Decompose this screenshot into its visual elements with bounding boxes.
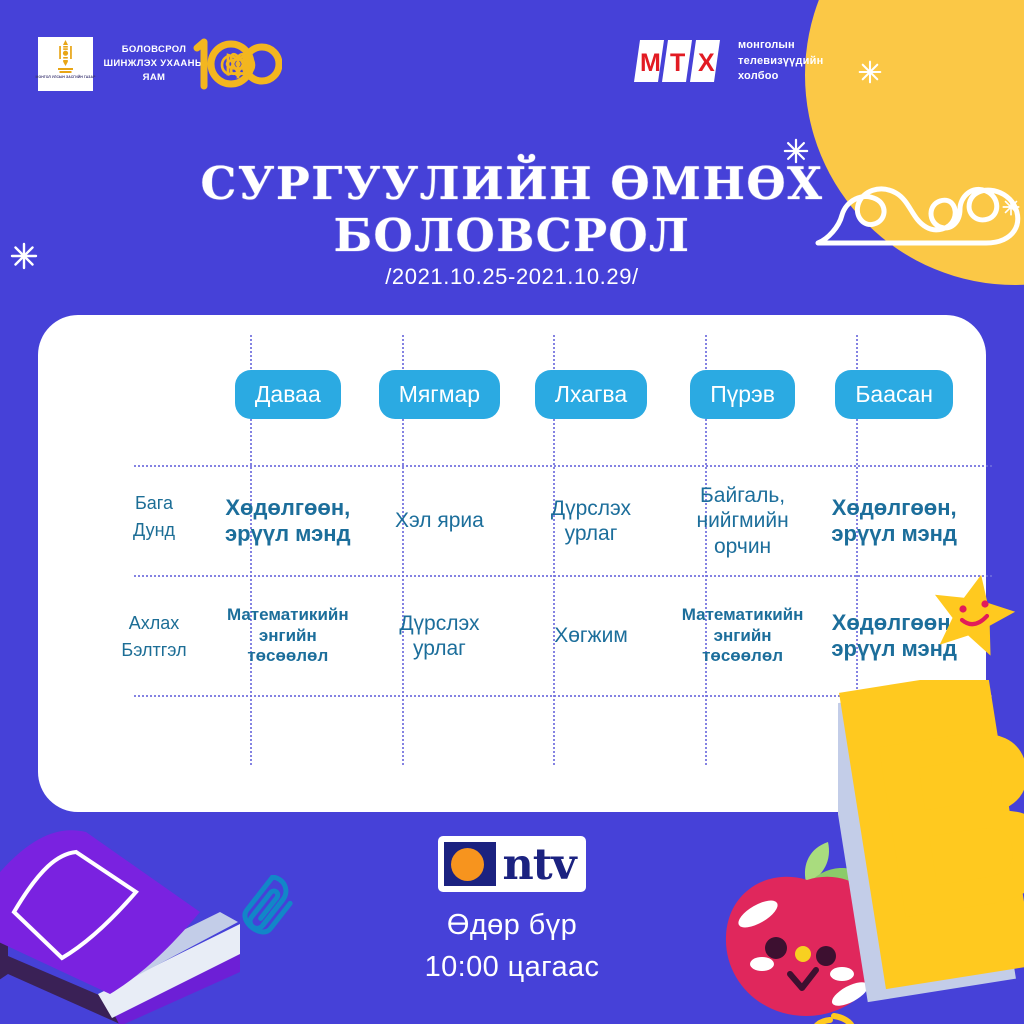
ntv-logo[interactable]: ntv (438, 836, 585, 892)
row-label-line2: Дунд (98, 517, 210, 544)
mongolia-state-emblem-icon: МОНГОЛ УЛСЫН ЗАСГИЙН ГАЗАР (38, 37, 93, 91)
mtx-name: монголын телевизүүдийн холбоо (738, 38, 823, 85)
day-header-cell: Пүрэв (667, 363, 819, 425)
schedule-cell-text: Хөдөлгөөн, эрүүл мэнд (220, 495, 356, 548)
svg-text:М: М (640, 49, 661, 77)
schedule-cell[interactable]: Хөдөлгөөн, эрүүл мэнд (212, 475, 364, 567)
day-pill-thursday[interactable]: Пүрэв (690, 370, 795, 419)
schedule-cell-text: Математикийн энгийн төсөөлөл (675, 605, 811, 666)
schedule-cell-text: Математикийн энгийн төсөөлөл (220, 605, 356, 666)
grid-hline (134, 575, 992, 577)
ntv-orange-circle-icon (451, 848, 484, 881)
date-range: /2021.10.25-2021.10.29/ (0, 264, 1024, 290)
page-title-line1: СУРГУУЛИЙН ӨМНӨХ (0, 158, 1024, 210)
paperclip-icon (232, 875, 310, 950)
row-label-line2: Бэлтгэл (98, 637, 210, 664)
mtx-name-line3: холбоо (738, 69, 823, 85)
row-label-bagadund: Бага Дунд (98, 490, 210, 544)
page-title-line2: БОЛОВСРОЛ (0, 210, 1024, 262)
page-title: СУРГУУЛИЙН ӨМНӨХ БОЛОВСРОЛ (0, 158, 1024, 262)
day-header-cell: Мягмар (364, 363, 516, 425)
row-label-ahlahbeltgel: Ахлах Бэлтгэл (98, 610, 210, 664)
day-header-cell: Даваа (212, 363, 364, 425)
schedule-cell-text: Дүрслэх урлаг (372, 611, 508, 661)
row-label-line1: Ахлах (98, 610, 210, 637)
day-header-cell: Баасан (818, 363, 970, 425)
mtx-name-line1: монголын (738, 38, 823, 54)
logo-bar: МОНГОЛ УЛСЫН ЗАСГИЙН ГАЗАР БОЛОВСРОЛ ШИН… (0, 0, 1024, 130)
svg-text:Х: Х (698, 49, 715, 77)
emblem-caption: МОНГОЛ УЛСЫН ЗАСГИЙН ГАЗАР (36, 75, 96, 80)
schedule-cell[interactable]: Хэл яриа (364, 475, 516, 567)
ntv-mark-icon (444, 842, 496, 886)
row-label-line1: Бага (98, 490, 210, 517)
poster-canvas: МОНГОЛ УЛСЫН ЗАСГИЙН ГАЗАР БОЛОВСРОЛ ШИН… (0, 0, 1024, 1024)
schedule-cell-text: Хөгжим (554, 623, 628, 648)
ministry-logo: МОНГОЛ УЛСЫН ЗАСГИЙН ГАЗАР БОЛОВСРОЛ ШИН… (38, 37, 206, 91)
schedule-cell-text: Хэл яриа (395, 508, 484, 533)
schedule-cell[interactable]: Математикийн энгийн төсөөлөл (212, 587, 364, 685)
schedule-cell[interactable]: Хөдөлгөөн, эрүүл мэнд (818, 475, 970, 567)
page-title-block: СУРГУУЛИЙН ӨМНӨХ БОЛОВСРОЛ /2021.10.25-2… (0, 158, 1024, 290)
schedule-cell-text: Хөдөлгөөн, эрүүл мэнд (826, 495, 962, 548)
day-pill-wednesday[interactable]: Лхагва (535, 370, 647, 419)
schedule-cell[interactable]: Дүрслэх урлаг (515, 475, 667, 567)
day-pill-monday[interactable]: Даваа (235, 370, 341, 419)
schedule-cell-text: Байгаль, нийгмийн орчин (675, 483, 811, 559)
letter-b-icon: B (838, 680, 1024, 1015)
mtx-logo: М Т Х монголын телевизүүдийн холбоо (632, 38, 823, 85)
grid-hline (134, 465, 992, 467)
schedule-cell[interactable]: Дүрслэх урлаг (364, 587, 516, 685)
day-pill-friday[interactable]: Баасан (835, 370, 953, 419)
schedule-cell-text: Дүрслэх урлаг (523, 496, 659, 546)
day-header-row: Даваа Мягмар Лхагва Пүрэв Баасан (212, 363, 970, 425)
table-row: Математикийн энгийн төсөөлөл Дүрслэх урл… (212, 587, 970, 685)
mtx-name-line2: телевизүүдийн (738, 54, 823, 70)
schedule-cell[interactable]: Математикийн энгийн төсөөлөл (667, 587, 819, 685)
day-header-cell: Лхагва (515, 363, 667, 425)
smiley-star-icon (930, 570, 1016, 661)
table-row: Хөдөлгөөн, эрүүл мэнд Хэл яриа Дүрслэх у… (212, 475, 970, 567)
soyombo-icon (57, 40, 74, 74)
100-years-atom-book-icon (190, 36, 282, 92)
ntv-wordmark: ntv (502, 846, 575, 885)
day-pill-tuesday[interactable]: Мягмар (379, 370, 500, 419)
schedule-cell[interactable]: Байгаль, нийгмийн орчин (667, 475, 819, 567)
svg-text:Т: Т (670, 49, 685, 77)
mtx-mark-icon: М Т Х (632, 38, 728, 84)
schedule-cell[interactable]: Хөгжим (515, 587, 667, 685)
